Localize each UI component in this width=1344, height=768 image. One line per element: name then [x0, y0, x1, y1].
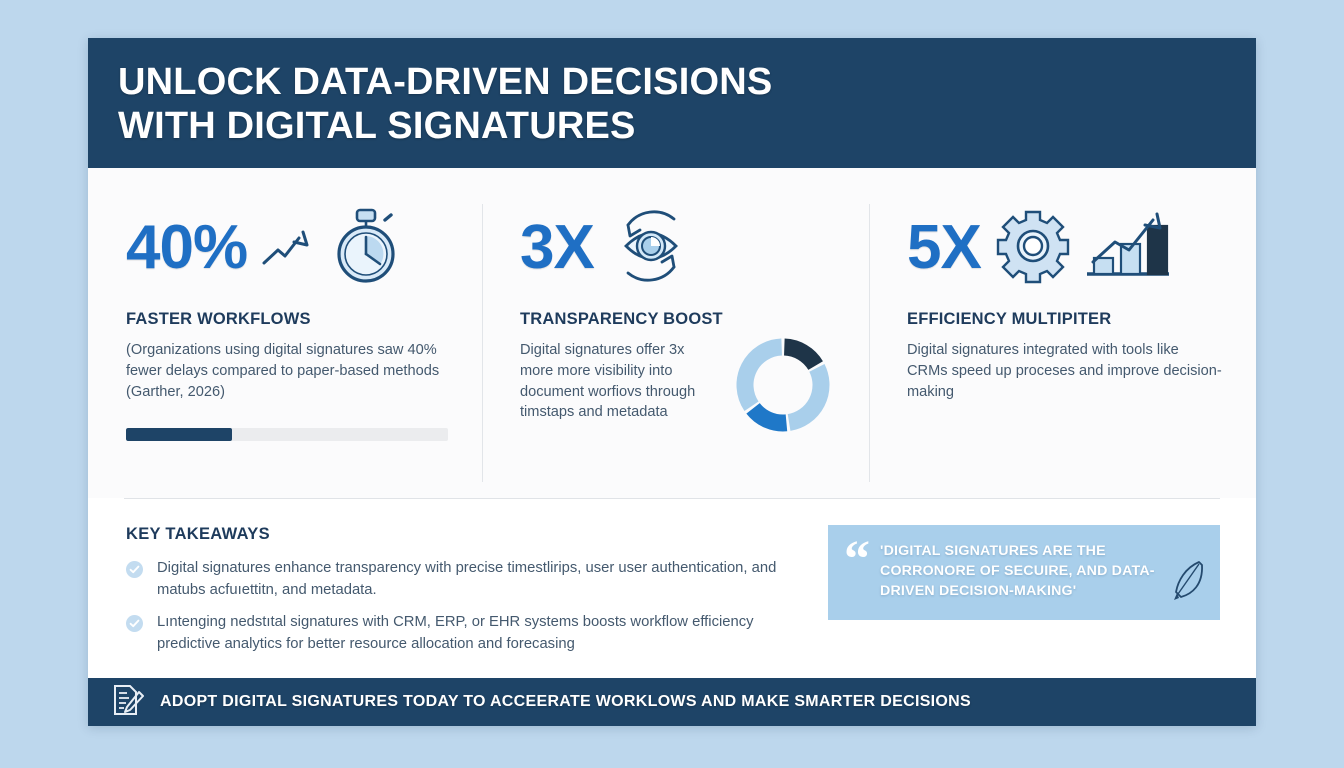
progress-bar-fill	[126, 428, 232, 441]
stat-description: Digital signatures integrated with tools…	[907, 340, 1222, 402]
lower-section: KEY TAKEAWAYS Digital signatures enhance…	[88, 499, 1256, 678]
check-circle-icon	[126, 561, 143, 578]
stat-card-transparency-boost: 3X	[482, 200, 869, 498]
stat-number: 3X	[520, 217, 594, 279]
page-title-line-1: UNLOCK DATA-DRIVEN DECISIONS	[118, 61, 772, 103]
stat-card-efficiency-multiplier: 5X	[869, 200, 1256, 498]
quote-callout: “ 'DIGITAL SIGNATURES ARE THE CORRONORE …	[828, 525, 1220, 619]
eye-refresh-icon	[608, 205, 694, 292]
stat-icon-group	[608, 205, 694, 292]
footer-cta-text: ADOPT DIGITAL SIGNATURES TODAY TO ACCEER…	[160, 693, 971, 711]
stat-label: TRANSPARENCY BOOST	[520, 310, 835, 329]
stat-number: 5X	[907, 217, 981, 279]
footer-cta-bar: ADOPT DIGITAL SIGNATURES TODAY TO ACCEER…	[88, 678, 1256, 726]
document-signature-icon	[110, 683, 144, 722]
stat-card-faster-workflows: 40%	[88, 200, 482, 498]
header-banner: UNLOCK DATA-DRIVEN DECISIONS WITH DIGITA…	[88, 38, 1256, 168]
stat-label: EFFICIENCY MULTIPITER	[907, 310, 1222, 329]
key-takeaways-heading: KEY TAKEAWAYS	[126, 525, 802, 544]
stat-headline: 40%	[126, 200, 448, 296]
list-item: Digital signatures enhance transparency …	[126, 558, 802, 601]
stopwatch-icon	[329, 206, 403, 291]
stat-icon-group	[261, 206, 403, 291]
list-item-text: Lıntenging nedstıtal signatures with CRM…	[157, 612, 802, 655]
check-circle-icon	[126, 615, 143, 632]
stat-label: FASTER WORKFLOWS	[126, 310, 448, 329]
list-item-text: Digital signatures enhance transparency …	[157, 558, 802, 601]
progress-bar-track	[126, 428, 448, 441]
list-item: Lıntenging nedstıtal signatures with CRM…	[126, 612, 802, 655]
stat-headline: 3X	[520, 200, 835, 296]
page-title-line-2: WITH DIGITAL SIGNATURES	[118, 104, 1226, 148]
stat-number: 40%	[126, 217, 247, 279]
gear-icon	[995, 208, 1071, 289]
donut-chart	[731, 333, 835, 442]
infographic-card: UNLOCK DATA-DRIVEN DECISIONS WITH DIGITA…	[88, 38, 1256, 726]
page-title: UNLOCK DATA-DRIVEN DECISIONS WITH DIGITA…	[118, 60, 1226, 148]
bar-chart-growth-icon	[1081, 206, 1173, 291]
trend-up-arrow-icon	[261, 223, 319, 274]
stats-row: 40%	[88, 168, 1256, 498]
stat-description: Digital signatures offer 3x more more vi…	[520, 340, 721, 423]
stat-headline: 5X	[907, 200, 1222, 296]
stat-icon-group	[995, 206, 1173, 291]
key-takeaways-panel: KEY TAKEAWAYS Digital signatures enhance…	[126, 525, 802, 678]
quill-feather-icon	[1172, 559, 1206, 608]
quote-text: 'DIGITAL SIGNATURES ARE THE CORRONORE OF…	[880, 541, 1202, 601]
stat-body-with-chart: Digital signatures offer 3x more more vi…	[520, 329, 835, 442]
stat-description: (Organizations using digital signatures …	[126, 340, 448, 402]
quote-mark-icon: “	[844, 541, 870, 601]
